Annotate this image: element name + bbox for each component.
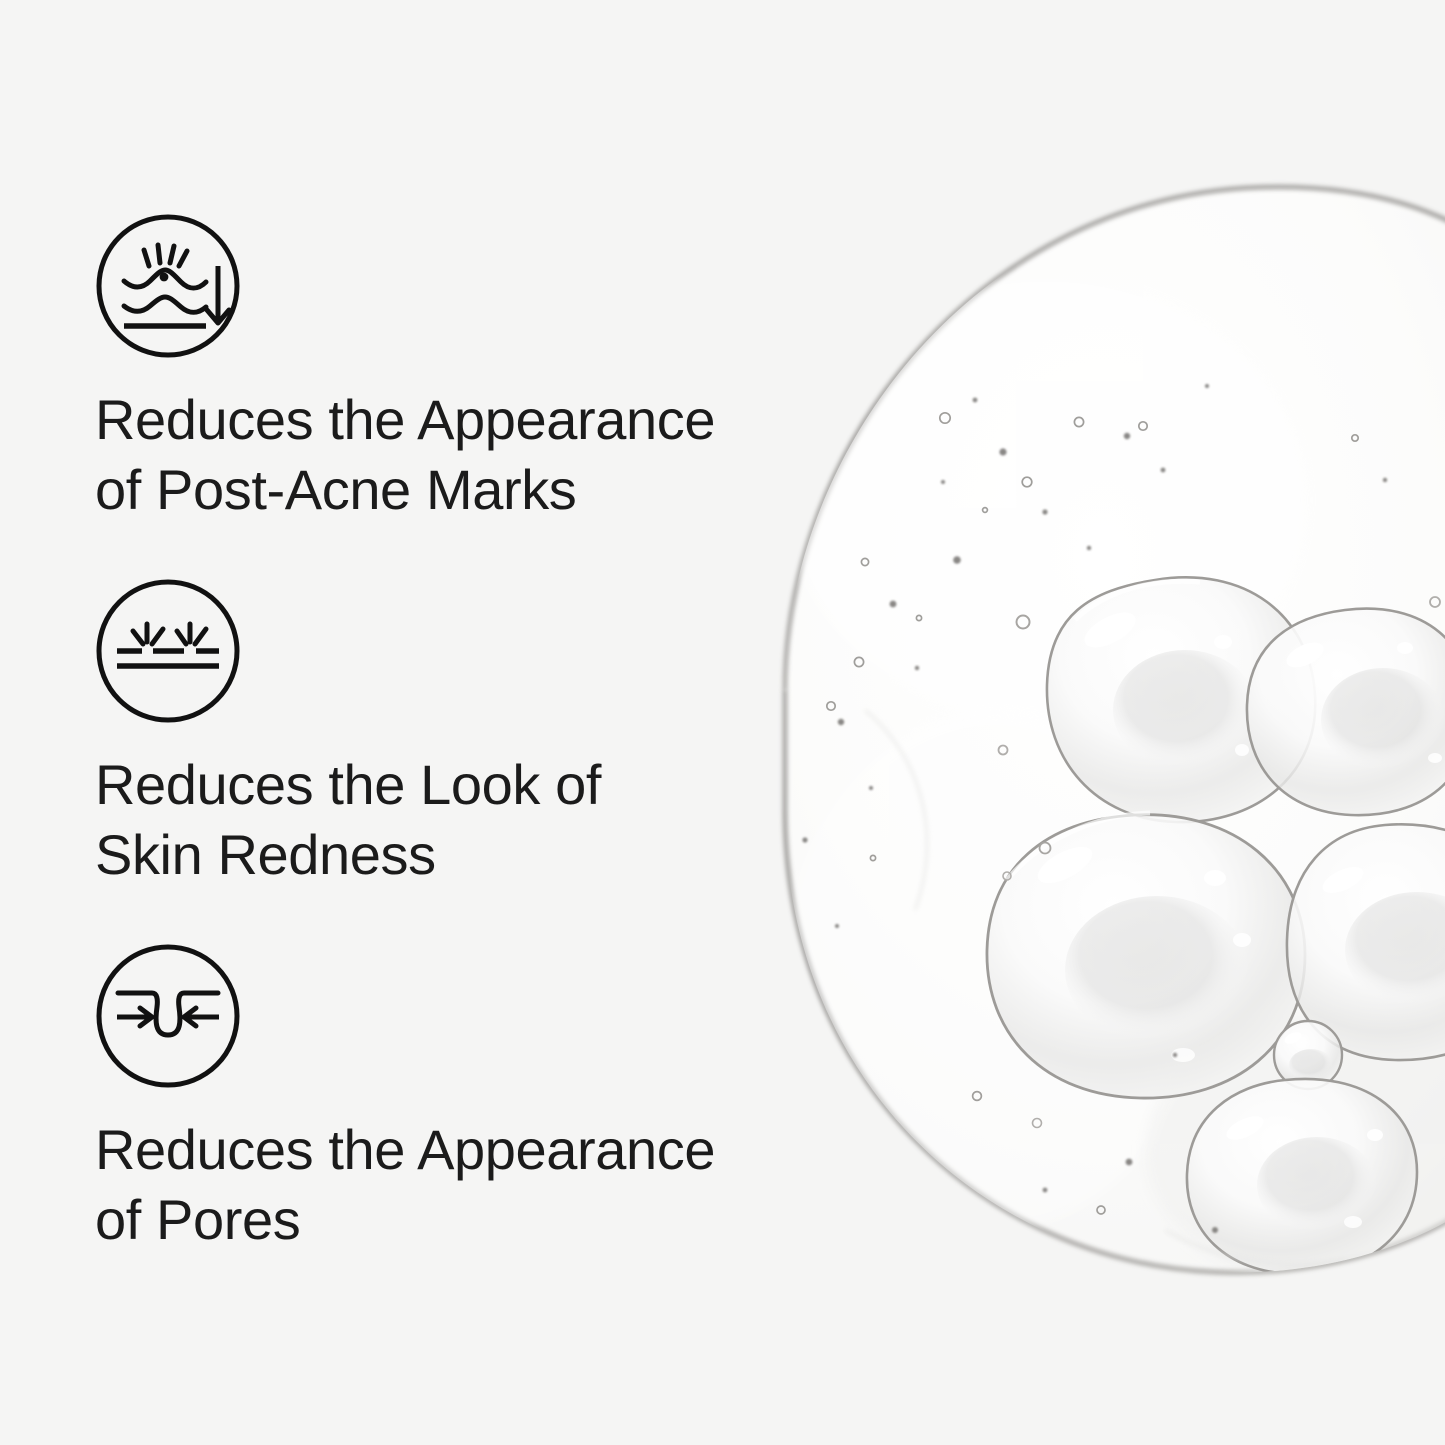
benefit-label: Reduces the Look of Skin Redness — [95, 750, 795, 890]
skin-waves-down-arrow-icon — [95, 213, 241, 359]
bubble-cluster — [987, 577, 1445, 1274]
marketing-graphic: Reduces the Appearance of Post-Acne Mark… — [0, 0, 1445, 1445]
product-image — [745, 150, 1445, 1310]
benefit-item-post-acne-marks: Reduces the Appearance of Post-Acne Mark… — [95, 213, 795, 525]
gel-droplet-body — [785, 187, 1445, 1272]
pore-tightening-arrows-icon — [95, 943, 241, 1089]
gel-specks — [802, 384, 1445, 1310]
benefit-item-pores: Reduces the Appearance of Pores — [95, 943, 795, 1255]
benefits-list: Reduces the Appearance of Post-Acne Mark… — [0, 0, 800, 1445]
benefit-item-skin-redness: Reduces the Look of Skin Redness — [95, 578, 795, 890]
benefit-label: Reduces the Appearance of Post-Acne Mark… — [95, 385, 795, 525]
benefit-label: Reduces the Appearance of Pores — [95, 1115, 795, 1255]
gel-microbubbles — [827, 413, 1358, 1294]
skin-irritation-bursts-icon — [95, 578, 241, 724]
